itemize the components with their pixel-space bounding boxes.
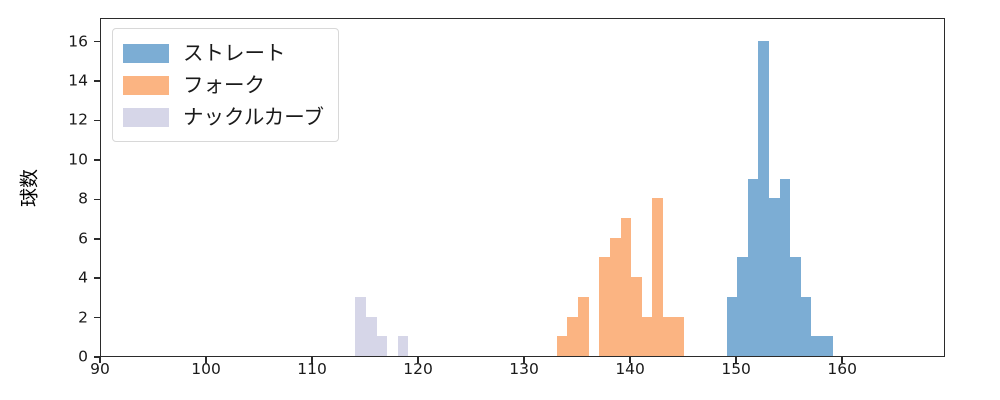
- x-axis-tick-label: 120: [403, 362, 433, 378]
- y-axis-tick-mark: [94, 80, 100, 82]
- histogram-bar: [769, 198, 780, 356]
- y-axis-tick-label: 14: [58, 73, 88, 89]
- y-axis-tick-label: 16: [58, 34, 88, 50]
- y-axis-tick-label: 8: [58, 192, 88, 208]
- y-axis-tick-label: 12: [58, 113, 88, 129]
- histogram-bar: [663, 317, 684, 356]
- histogram-bar: [578, 297, 589, 356]
- histogram-bar: [642, 317, 653, 356]
- x-axis-tick-mark: [205, 357, 207, 363]
- x-axis-tick-label: 160: [827, 362, 857, 378]
- legend-item-1: ストレート: [123, 37, 324, 69]
- histogram-bar: [398, 336, 409, 356]
- y-axis-tick-mark: [94, 120, 100, 122]
- x-axis-tick-label: 150: [721, 362, 751, 378]
- legend-label: ナックルカーブ: [183, 107, 324, 128]
- y-axis-tick-mark: [94, 277, 100, 279]
- histogram-bar: [567, 317, 578, 356]
- x-axis-tick-mark: [99, 357, 101, 363]
- legend-item-3: ナックルカーブ: [123, 101, 324, 133]
- histogram-bar: [790, 257, 801, 356]
- legend-item-2: フォーク: [123, 69, 324, 101]
- legend-label: ストレート: [183, 43, 286, 64]
- legend-label: フォーク: [183, 75, 265, 96]
- x-axis-tick-label: 130: [509, 362, 539, 378]
- histogram-bar: [377, 336, 388, 356]
- y-axis-tick-label: 4: [58, 270, 88, 286]
- histogram-bar: [631, 277, 642, 356]
- histogram-bar: [801, 297, 812, 356]
- histogram-bar: [621, 218, 632, 356]
- histogram-bar: [811, 336, 832, 356]
- x-axis-tick-label: 90: [90, 362, 110, 378]
- histogram-bar: [727, 297, 738, 356]
- y-axis-tick-mark: [94, 41, 100, 43]
- histogram-bar: [737, 257, 748, 356]
- x-axis-tick-mark: [841, 357, 843, 363]
- legend-swatch: [123, 108, 169, 127]
- histogram-bar: [599, 257, 610, 356]
- x-axis-tick-mark: [735, 357, 737, 363]
- y-axis-label: 球数: [15, 169, 42, 207]
- pitch-speed-histogram: 球数 ストレートフォークナックルカーブ 02468101214169010011…: [0, 0, 1000, 400]
- y-axis-tick-label: 10: [58, 152, 88, 168]
- y-axis-tick-mark: [94, 238, 100, 240]
- x-axis-tick-label: 140: [615, 362, 645, 378]
- legend-swatch: [123, 44, 169, 63]
- x-axis-tick-mark: [523, 357, 525, 363]
- y-axis-tick-mark: [94, 317, 100, 319]
- y-axis-tick-label: 0: [58, 349, 88, 365]
- x-axis-tick-mark: [417, 357, 419, 363]
- histogram-bar: [652, 198, 663, 356]
- x-axis-tick-mark: [629, 357, 631, 363]
- histogram-bar: [557, 336, 568, 356]
- x-axis-tick-mark: [311, 357, 313, 363]
- y-axis-tick-mark: [94, 199, 100, 201]
- legend-swatch: [123, 76, 169, 95]
- y-axis-tick-label: 2: [58, 310, 88, 326]
- x-axis-tick-label: 110: [297, 362, 327, 378]
- histogram-bar: [748, 179, 759, 356]
- y-axis-tick-mark: [94, 159, 100, 161]
- histogram-bar: [610, 238, 621, 356]
- histogram-bar: [780, 179, 791, 356]
- x-axis-tick-label: 100: [191, 362, 221, 378]
- histogram-bar: [758, 41, 769, 356]
- y-axis-tick-label: 6: [58, 231, 88, 247]
- histogram-bar: [355, 297, 366, 356]
- legend: ストレートフォークナックルカーブ: [112, 28, 339, 142]
- histogram-bar: [366, 317, 377, 356]
